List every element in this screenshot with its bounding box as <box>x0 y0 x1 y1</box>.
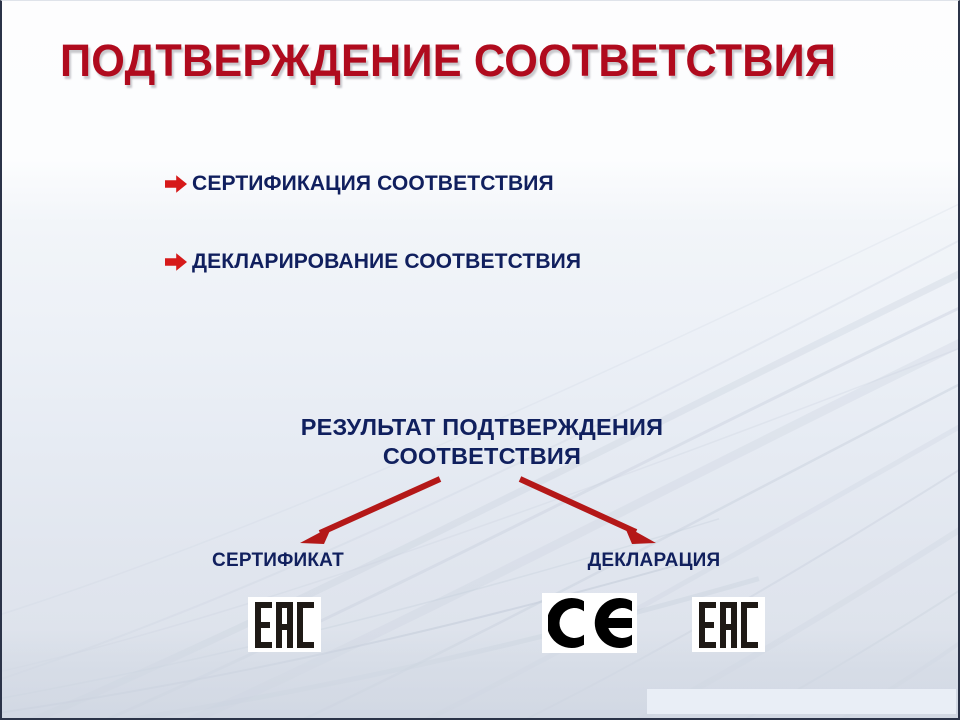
result-heading-line-2: СООТВЕТСТВИЯ <box>383 443 581 469</box>
eac-mark-icon <box>253 602 317 648</box>
result-heading: РЕЗУЛЬТАТ ПОДТВЕРЖДЕНИЯ СООТВЕТСТВИЯ <box>232 413 732 471</box>
page-title: ПОДТВЕРЖДЕНИЕ СООТВЕТСТВИЯ <box>60 35 886 87</box>
bullet-item-label: ДЕКЛАРИРОВАНИЕ СООТВЕТСТВИЯ <box>192 249 581 274</box>
red-arrow-bullet-icon <box>164 252 188 272</box>
bullet-item-declaration: ДЕКЛАРИРОВАНИЕ СООТВЕТСТВИЯ <box>164 249 589 274</box>
ce-mark-declaration <box>542 593 637 653</box>
branch-label-declaration: ДЕКЛАРАЦИЯ <box>568 550 740 572</box>
slide-canvas: ПОДТВЕРЖДЕНИЕ СООТВЕТСТВИЯ СЕРТИФИКАЦИЯ … <box>0 0 960 720</box>
background-lower-right-block <box>647 689 956 714</box>
eac-mark-declaration <box>692 597 765 652</box>
branch-label-certificate: СЕРТИФИКАТ <box>198 550 358 572</box>
bullet-item-label: СЕРТИФИКАЦИЯ СООТВЕТСТВИЯ <box>192 171 554 196</box>
result-heading-line-1: РЕЗУЛЬТАТ ПОДТВЕРЖДЕНИЯ <box>301 414 663 440</box>
eac-mark-certificate <box>248 597 321 652</box>
slide-background <box>2 1 958 718</box>
bullet-item-certification: СЕРТИФИКАЦИЯ СООТВЕТСТВИЯ <box>164 171 561 196</box>
ce-mark-icon <box>548 598 632 648</box>
eac-mark-icon <box>697 602 761 648</box>
red-arrow-bullet-icon <box>164 174 188 194</box>
